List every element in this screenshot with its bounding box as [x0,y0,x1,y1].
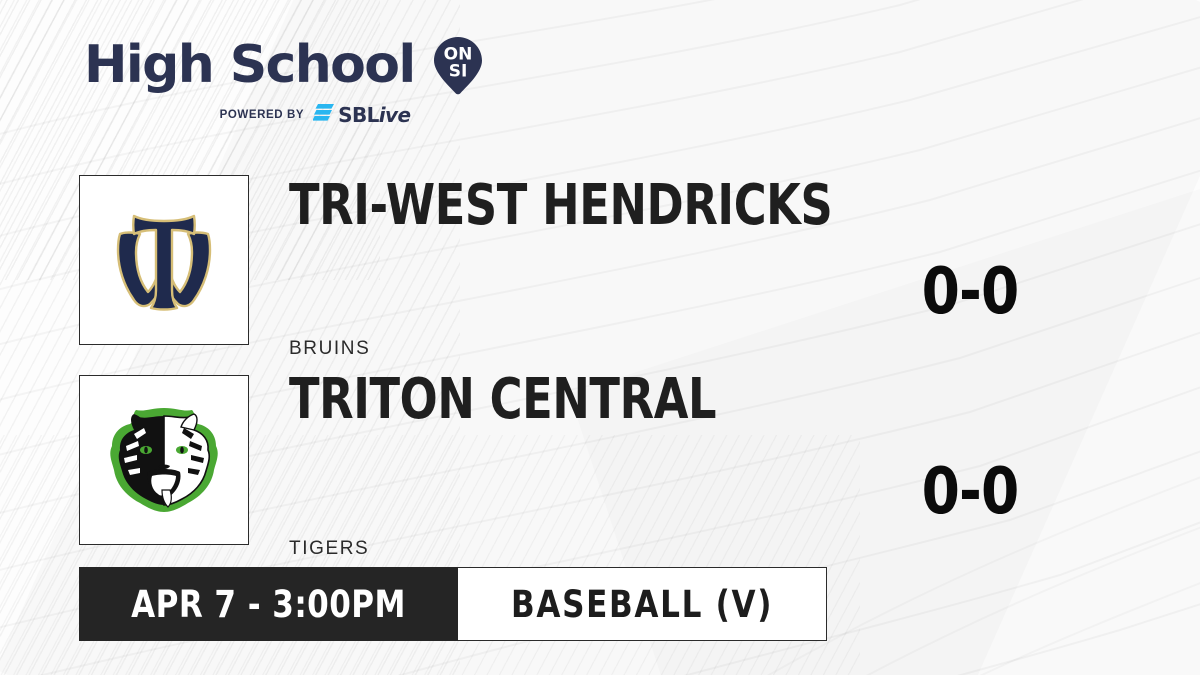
team-name-2: TRITON CENTRAL [289,372,716,428]
brand-wordmark: High School [84,39,415,91]
on-si-pin-icon: ON SI [427,34,489,96]
sblive-bold-part: SBL [338,103,379,127]
sblive-s-icon [313,103,335,127]
event-sport-panel: BASEBALL (V) [458,567,827,641]
sblive-italic-part: ive [379,103,411,127]
team-name-1: TRI-WEST HENDRICKS [289,178,832,234]
triton-central-tiger-head-icon [104,404,224,516]
team-mascot-2: TIGERS [289,538,369,560]
pin-line-2: SI [448,62,467,82]
team-logo-box-2 [79,375,249,545]
team-logo-box-1 [79,175,249,345]
event-info-bar: APR 7 - 3:00PM BASEBALL (V) [79,567,827,641]
event-datetime-text: APR 7 - 3:00PM [131,586,406,623]
sblive-logo: SBLive [313,103,410,127]
team-record-2: 0-0 [906,460,1033,524]
powered-by-row: POWERED BY SBLive [84,103,504,127]
team-mascot-1: BRUINS [289,338,370,360]
tri-west-tw-monogram-icon [98,194,230,326]
brand-logo: High School ON SI [84,34,504,96]
team-record-1: 0-0 [906,260,1033,324]
matchup-graphic: High School ON SI POWERED BY [0,0,1200,675]
event-datetime-panel: APR 7 - 3:00PM [79,567,458,641]
sblive-wordmark: SBLive [338,105,410,125]
event-sport-text: BASEBALL (V) [511,586,773,623]
powered-by-label: POWERED BY [220,109,305,121]
brand-header: High School ON SI POWERED BY [84,34,504,127]
